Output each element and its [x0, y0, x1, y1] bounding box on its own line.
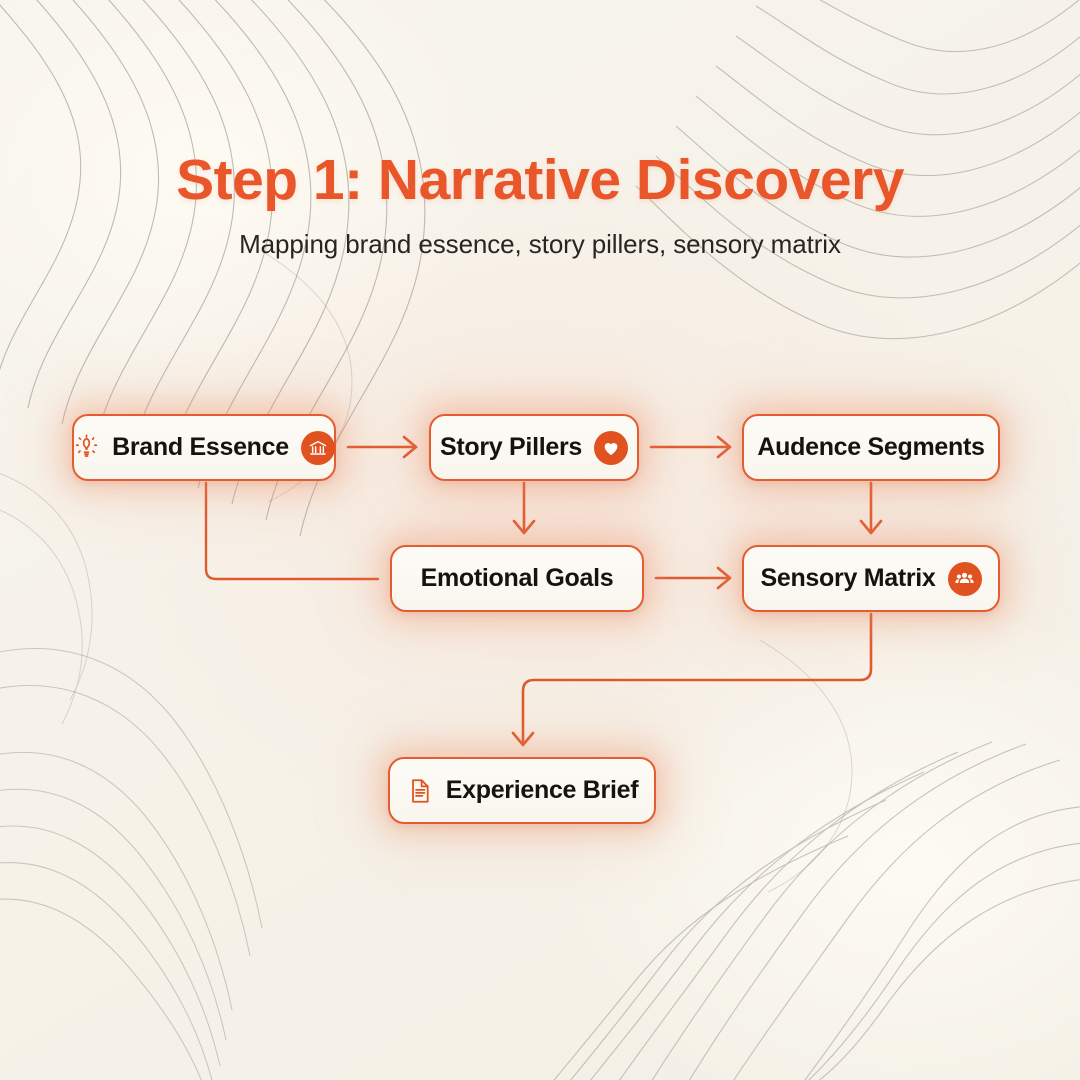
edge-brand-essence-to-story-pillers	[348, 437, 416, 457]
document-icon	[406, 777, 434, 805]
edge-emotional-goals-to-sensory-matrix	[656, 568, 730, 588]
edge-sensory-matrix-to-experience-brief	[513, 614, 871, 745]
bank-icon	[301, 431, 335, 465]
node-label: Brand Essence	[112, 433, 289, 462]
node-label: Experience Brief	[446, 776, 639, 805]
heart-icon	[594, 431, 628, 465]
lightbulb-icon	[73, 434, 100, 461]
edge-audence-segments-to-sensory-matrix	[861, 483, 881, 533]
flowchart: Brand Essence Story Pillers Audence Segm…	[0, 0, 1080, 1080]
node-story-pillers[interactable]: Story Pillers	[429, 414, 639, 481]
node-audence-segments[interactable]: Audence Segments	[742, 414, 1000, 481]
node-label: Audence Segments	[757, 433, 984, 462]
flow-connectors	[0, 0, 1080, 1080]
node-sensory-matrix[interactable]: Sensory Matrix	[742, 545, 1000, 612]
edge-story-pillers-to-audence-segments	[651, 437, 730, 457]
node-brand-essence[interactable]: Brand Essence	[72, 414, 336, 481]
edge-story-pillers-to-emotional-goals	[514, 483, 534, 533]
node-experience-brief[interactable]: Experience Brief	[388, 757, 656, 824]
node-emotional-goals[interactable]: Emotional Goals	[390, 545, 644, 612]
slide-canvas: Step 1: Narrative Discovery Mapping bran…	[0, 0, 1080, 1080]
node-label: Story Pillers	[440, 433, 582, 462]
node-label: Emotional Goals	[421, 564, 614, 593]
node-label: Sensory Matrix	[760, 564, 935, 593]
edge-brand-essence-to-emotional-goals	[206, 483, 378, 579]
people-icon	[948, 562, 982, 596]
